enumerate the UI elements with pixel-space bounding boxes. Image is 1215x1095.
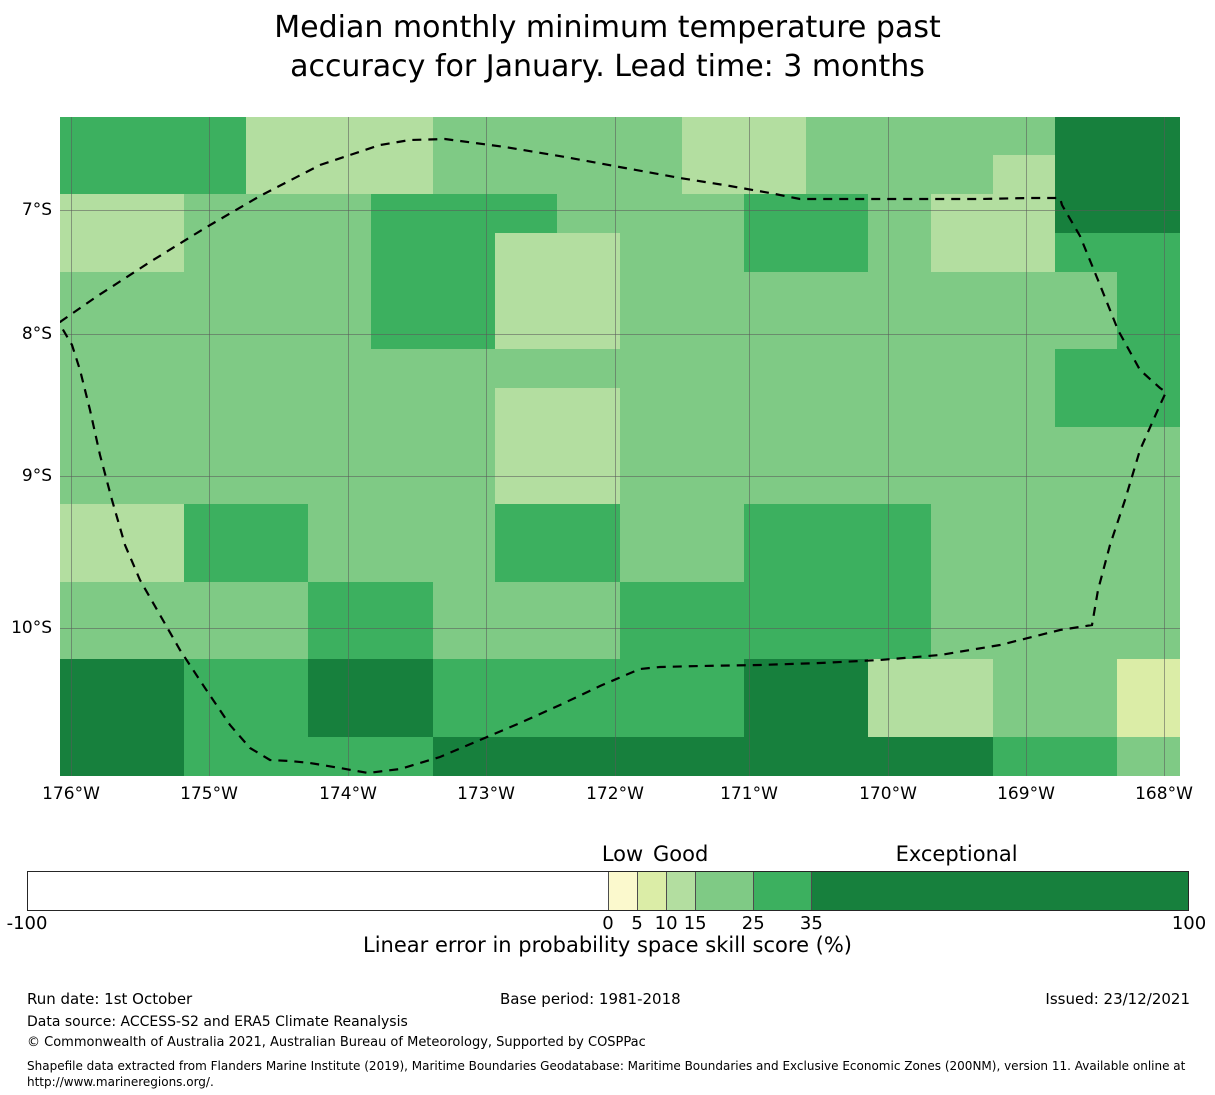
colorbar-tick-label: 0 (602, 913, 613, 934)
colorbar-segment (811, 872, 1188, 910)
issued-date-text: Issued: 23/12/2021 (1045, 990, 1190, 1008)
shapefile-attribution-text: Shapefile data extracted from Flanders M… (27, 1058, 1185, 1090)
x-axis-tick-label: 171°W (720, 784, 778, 804)
x-axis-tick-label: 168°W (1135, 784, 1193, 804)
y-axis-tick-label: 9°S (22, 466, 52, 486)
colorbar-segment (28, 872, 608, 910)
heatmap-plot-area (60, 117, 1180, 776)
colorbar-tick-label: -100 (7, 913, 48, 934)
y-axis-tick-label: 10°S (11, 618, 52, 638)
page-title: Median monthly minimum temperature past … (0, 8, 1215, 86)
eez-boundary-line (60, 117, 1180, 776)
x-axis-tick-label: 173°W (457, 784, 515, 804)
colorbar-segment (666, 872, 695, 910)
x-axis-tick-label: 174°W (319, 784, 377, 804)
run-date-text: Run date: 1st October (27, 990, 192, 1008)
colorbar-segment (695, 872, 753, 910)
x-axis-tick-label: 170°W (859, 784, 917, 804)
data-source-text: Data source: ACCESS-S2 and ERA5 Climate … (27, 1014, 408, 1030)
colorbar-segment (608, 872, 637, 910)
colorbar-segment (753, 872, 811, 910)
x-axis-tick-label: 175°W (180, 784, 238, 804)
colorbar-tick-label: 35 (800, 913, 823, 934)
colorbar-category-label: Exceptional (896, 842, 1018, 867)
x-axis-tick-label: 169°W (997, 784, 1055, 804)
base-period-text: Base period: 1981-2018 (500, 990, 681, 1008)
y-axis-tick-label: 8°S (22, 324, 52, 344)
colorbar-tick-label: 100 (1172, 913, 1206, 934)
copyright-text: © Commonwealth of Australia 2021, Austra… (27, 1035, 646, 1050)
y-axis-tick-label: 7°S (22, 200, 52, 220)
colorbar (27, 871, 1189, 911)
colorbar-category-label: Low (602, 842, 643, 867)
colorbar-tick-label: 5 (631, 913, 642, 934)
x-axis-tick-label: 172°W (586, 784, 644, 804)
colorbar-axis-label: Linear error in probability space skill … (0, 932, 1215, 958)
colorbar-tick-label: 10 (655, 913, 678, 934)
colorbar-tick-label: 15 (684, 913, 707, 934)
colorbar-tick-label: 25 (742, 913, 765, 934)
x-axis-tick-label: 176°W (42, 784, 100, 804)
colorbar-category-label: Good (653, 842, 708, 867)
colorbar-segment (637, 872, 666, 910)
colorbar-gradient (27, 871, 1189, 911)
